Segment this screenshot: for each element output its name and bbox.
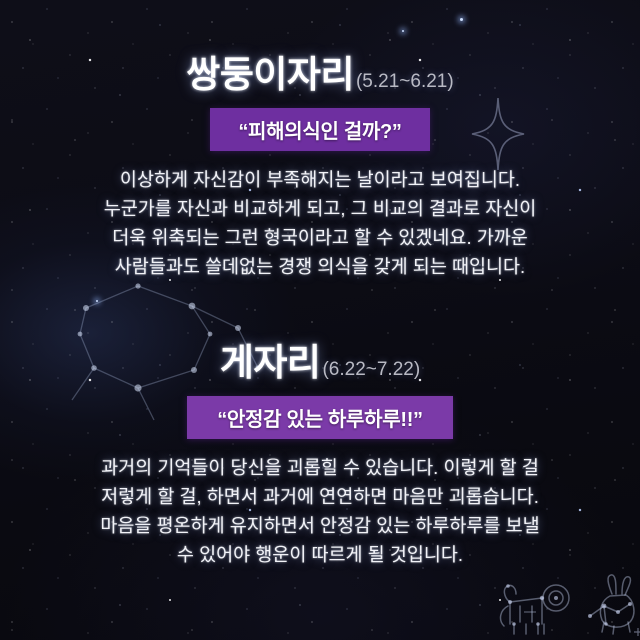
sign-date-range: (6.22~7.22) bbox=[322, 359, 420, 381]
horoscope-card: 쌍둥이자리 (5.21~6.21) “피해의식인 걸까?” 이상하게 자신감이 … bbox=[0, 0, 640, 640]
section-banner: “안정감 있는 하루하루!!” bbox=[187, 396, 453, 439]
banner-row: “피해의식인 걸까?” bbox=[0, 108, 640, 151]
sign-name: 게자리 bbox=[220, 332, 321, 386]
bright-star bbox=[402, 30, 404, 32]
bright-star bbox=[460, 18, 463, 21]
banner-row: “안정감 있는 하루하루!!” bbox=[0, 396, 640, 439]
sign-name: 쌍둥이자리 bbox=[186, 44, 354, 98]
horoscope-section-cancer: 게자리 (6.22~7.22) “안정감 있는 하루하루!!” 과거의 기억들이… bbox=[0, 332, 640, 569]
sign-date-range: (5.21~6.21) bbox=[356, 71, 454, 93]
horoscope-section-gemini: 쌍둥이자리 (5.21~6.21) “피해의식인 걸까?” 이상하게 자신감이 … bbox=[0, 44, 640, 281]
section-body-text: 이상하게 자신감이 부족해지는 날이라고 보여집니다. 누군가를 자신과 비교하… bbox=[0, 165, 640, 281]
section-banner: “피해의식인 걸까?” bbox=[210, 108, 429, 151]
lion-constellation-figure bbox=[494, 576, 580, 638]
sign-heading: 게자리 (6.22~7.22) bbox=[0, 332, 640, 386]
rabbit-constellation-figure bbox=[582, 572, 640, 638]
sign-heading: 쌍둥이자리 (5.21~6.21) bbox=[0, 44, 640, 98]
bright-star bbox=[96, 300, 98, 302]
section-body-text: 과거의 기억들이 당신을 괴롭힐 수 있습니다. 이렇게 할 걸 저렇게 할 걸… bbox=[0, 453, 640, 569]
